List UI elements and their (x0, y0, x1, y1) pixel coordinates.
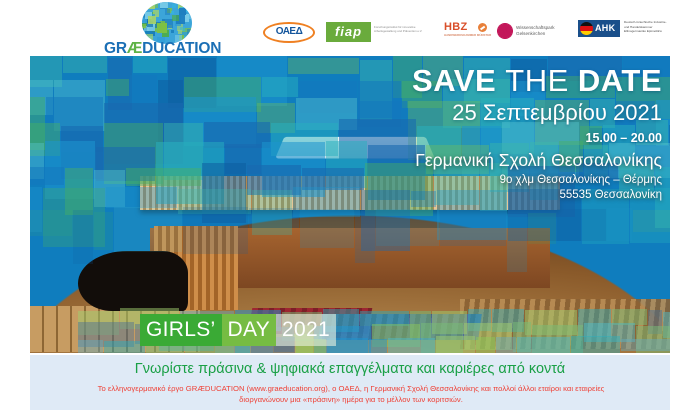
german-flag-circle-icon (580, 22, 593, 35)
fiap-label: fiap (326, 24, 371, 39)
graeducation-name-ae: Æ (127, 40, 142, 57)
event-address-line1: 9ο χλμ Θεσσαλονίκης – Θέρμης (360, 173, 662, 188)
graeducation-logo: GRÆDUCATION (104, 2, 240, 54)
caption-section: Γνωρίστε πράσινα & ψηφιακά επαγγέλματα κ… (30, 355, 670, 410)
hbz-subtitle: HANDWERKSKAMMER MÜNSTER (444, 33, 492, 37)
event-time: 15.00 – 20.00 (360, 128, 662, 148)
save-word: SAVE (412, 63, 496, 98)
event-banner: SAVE THE DATE 25 Σεπτεμβρίου 2021 15.00 … (30, 56, 670, 353)
caption-headline: Γνωρίστε πράσινα & ψηφιακά επαγγέλματα κ… (30, 361, 670, 377)
save-the-date-title: SAVE THE DATE (360, 64, 662, 98)
the-word: THE (505, 63, 569, 98)
wissenschaftspark-logo: Wissenschaftspark Gelsenkirchen (497, 22, 569, 44)
graeducation-wordmark: GRÆDUCATION (104, 41, 240, 56)
sunburst-icon (497, 23, 513, 39)
fiap-logo: fiap Forschungsinstitut für innovative A… (326, 22, 424, 44)
event-venue: Γερμανική Σχολή Θεσσαλονίκης (360, 148, 662, 173)
bottom-mosaic-band (30, 308, 670, 353)
girls-day-badge: GIRLS’ DAY 2021 (140, 314, 336, 346)
pixel-globe-icon (142, 2, 192, 44)
graeducation-name-part1: GR (104, 40, 127, 57)
event-date: 25 Σεπτεμβρίου 2021 (360, 98, 662, 128)
date-word: DATE (578, 63, 662, 98)
caption-body: Το ελληνογερμανικό έργο GRÆDUCATION (www… (78, 384, 624, 405)
ahk-logo: AHK Deutsch-Griechische Industrie- und H… (578, 20, 670, 45)
ahk-label: AHK (595, 23, 615, 33)
wissenschaftspark-line2: Gelsenkirchen (516, 31, 570, 37)
ahk-subtitle: Deutsch-Griechische Industrie- und Hande… (624, 20, 670, 34)
hbz-label: HBZ (444, 21, 468, 33)
girls-day-year: 2021 (276, 314, 336, 346)
graeducation-name-part2: DUCATION (142, 40, 221, 57)
girls-day-part2: DAY (222, 314, 277, 346)
oaed-label: ΟΑΕΔ (263, 26, 315, 37)
wissenschaftspark-label: Wissenschaftspark Gelsenkirchen (516, 25, 570, 38)
banner-headline-block: SAVE THE DATE 25 Σεπτεμβρίου 2021 15.00 … (360, 64, 670, 203)
event-address-line2: 55535 Θεσσαλονίκη (360, 188, 662, 203)
partner-logo-strip: GRÆDUCATION ΟΑΕΔ fiap Forschungsinstitut… (0, 0, 700, 56)
hbz-circle-icon (478, 23, 487, 32)
girls-day-part1: GIRLS’ (140, 314, 222, 346)
fiap-green-box-logo: fiap (326, 22, 371, 42)
ahk-blue-box: AHK (578, 20, 620, 37)
oaed-logo: ΟΑΕΔ (263, 22, 315, 43)
fiap-subtitle: Forschungsinstitut für innovative Arbeit… (374, 25, 426, 34)
hbz-logo: HBZ HANDWERKSKAMMER MÜNSTER (444, 21, 492, 45)
